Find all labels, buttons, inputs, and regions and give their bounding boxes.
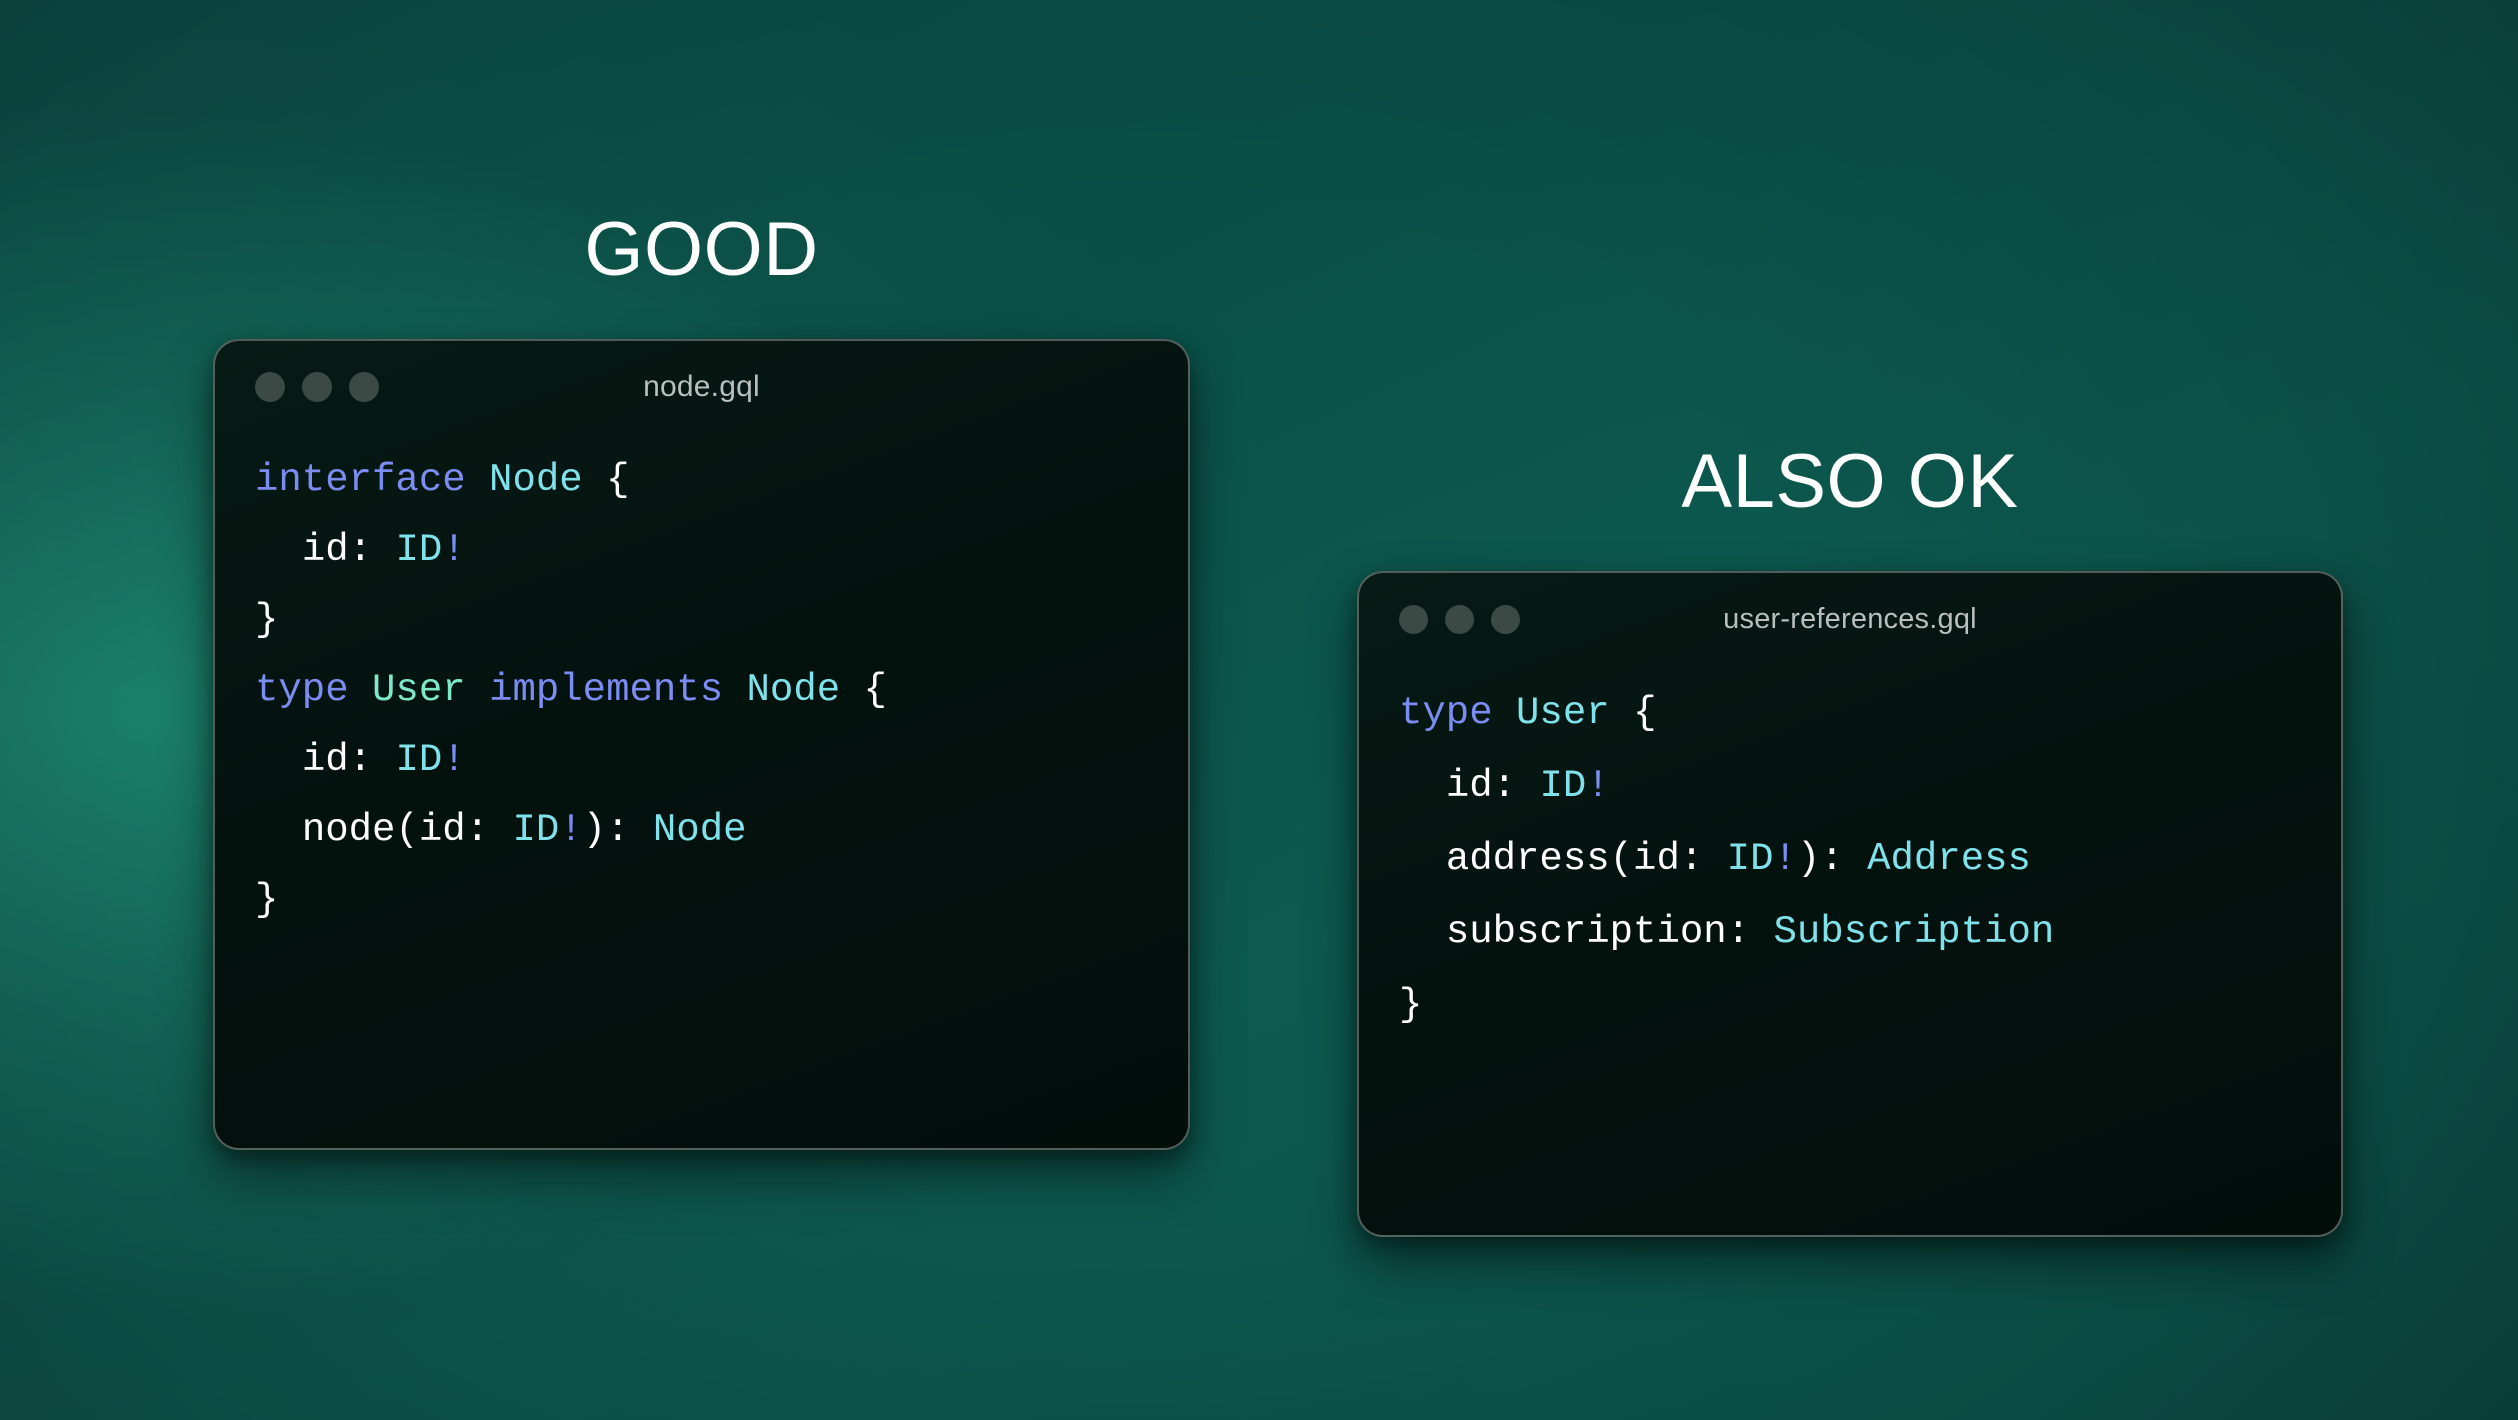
- code-token: !: [442, 738, 465, 782]
- code-token: [349, 668, 372, 712]
- minimize-dot-icon[interactable]: [302, 372, 332, 402]
- code-line: address(id: ID!): Address: [1399, 823, 2341, 896]
- code-token: [372, 528, 395, 572]
- close-dot-icon[interactable]: [1399, 605, 1428, 634]
- code-token: [489, 808, 512, 852]
- code-content: interface Node { id: ID!}type User imple…: [215, 433, 1188, 935]
- code-line: subscription: Subscription: [1399, 896, 2341, 969]
- code-token: ID: [512, 808, 559, 852]
- code-line: }: [1399, 969, 2341, 1042]
- code-token: Node: [747, 668, 841, 712]
- code-line: type User {: [1399, 677, 2341, 750]
- code-line: }: [255, 585, 1188, 655]
- code-token: [1844, 837, 1867, 881]
- code-token: type: [255, 668, 349, 712]
- code-token: [1399, 837, 1446, 881]
- window-titlebar: user-references.gql: [1359, 573, 2341, 665]
- code-line: id: ID!: [1399, 750, 2341, 823]
- code-token: !: [559, 808, 582, 852]
- maximize-dot-icon[interactable]: [1491, 605, 1520, 634]
- code-token: Node: [489, 458, 583, 502]
- minimize-dot-icon[interactable]: [1445, 605, 1474, 634]
- code-token: !: [442, 528, 465, 572]
- code-token: [1516, 764, 1539, 808]
- code-token: ):: [583, 808, 630, 852]
- code-token: Address: [1867, 837, 2031, 881]
- code-token: }: [255, 878, 278, 922]
- code-token: address(id:: [1446, 837, 1703, 881]
- code-window-user-references-gql: user-references.gql type User { id: ID! …: [1357, 571, 2343, 1237]
- code-line: id: ID!: [255, 515, 1188, 585]
- code-token: [255, 808, 302, 852]
- code-token: [466, 458, 489, 502]
- code-token: {: [1633, 691, 1656, 735]
- code-token: [255, 738, 302, 782]
- code-token: interface: [255, 458, 466, 502]
- code-token: [1750, 910, 1773, 954]
- code-token: ):: [1797, 837, 1844, 881]
- code-token: ID: [1539, 764, 1586, 808]
- code-token: [583, 458, 606, 502]
- code-token: [1703, 837, 1726, 881]
- code-token: type: [1399, 691, 1493, 735]
- code-token: {: [606, 458, 629, 502]
- code-token: [629, 808, 652, 852]
- window-titlebar: node.gql: [215, 341, 1188, 433]
- code-token: Subscription: [1773, 910, 2054, 954]
- code-token: [1399, 910, 1446, 954]
- code-token: !: [1773, 837, 1796, 881]
- code-token: User: [372, 668, 466, 712]
- code-token: }: [255, 598, 278, 642]
- code-token: id:: [302, 738, 372, 782]
- panel-good: GOOD node.gql interface Node { id: ID!}t…: [213, 212, 1190, 1150]
- code-token: [1399, 764, 1446, 808]
- code-token: id:: [302, 528, 372, 572]
- close-dot-icon[interactable]: [255, 372, 285, 402]
- traffic-light-group: [255, 372, 379, 402]
- traffic-light-group: [1399, 605, 1520, 634]
- code-token: id:: [1446, 764, 1516, 808]
- code-token: [466, 668, 489, 712]
- panel-title-good: GOOD: [213, 212, 1190, 288]
- code-line: }: [255, 865, 1188, 935]
- code-content: type User { id: ID! address(id: ID!): Ad…: [1359, 665, 2341, 1042]
- code-token: ID: [395, 528, 442, 572]
- code-line: interface Node {: [255, 445, 1188, 515]
- panel-also-ok: ALSO OK user-references.gql type User { …: [1357, 444, 2343, 1237]
- code-token: [840, 668, 863, 712]
- code-line: id: ID!: [255, 725, 1188, 795]
- code-token: subscription:: [1446, 910, 1750, 954]
- code-token: !: [1586, 764, 1609, 808]
- code-token: ID: [395, 738, 442, 782]
- code-window-node-gql: node.gql interface Node { id: ID!}type U…: [213, 339, 1190, 1150]
- code-token: Node: [653, 808, 747, 852]
- code-token: [1493, 691, 1516, 735]
- maximize-dot-icon[interactable]: [349, 372, 379, 402]
- panel-title-also-ok: ALSO OK: [1357, 444, 2343, 520]
- code-token: [372, 738, 395, 782]
- code-token: }: [1399, 983, 1422, 1027]
- code-token: [1610, 691, 1633, 735]
- code-token: node(id:: [302, 808, 489, 852]
- code-line: type User implements Node {: [255, 655, 1188, 725]
- code-token: [255, 528, 302, 572]
- code-line: node(id: ID!): Node: [255, 795, 1188, 865]
- code-token: {: [864, 668, 887, 712]
- code-token: ID: [1727, 837, 1774, 881]
- code-token: [723, 668, 746, 712]
- code-token: User: [1516, 691, 1610, 735]
- code-token: implements: [489, 668, 723, 712]
